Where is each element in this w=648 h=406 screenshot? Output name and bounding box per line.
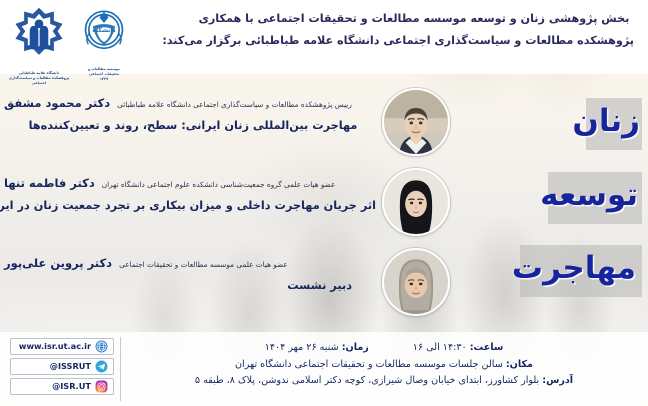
speaker-1-talk-title: مهاجرت بین‌المللی زنان ایرانی: سطح، روند… — [4, 119, 376, 132]
speaker-1-text: دکتر محمود مشفق رییس پژوهشکده مطالعات و … — [4, 96, 376, 132]
event-time-label: ساعت: — [470, 342, 504, 353]
footer-band: www.isr.ut.ac.ir @ISSRUT — [0, 332, 648, 406]
svg-text:دانشگاه: دانشگاه — [92, 26, 115, 34]
header-title-block: بخش پژوهشی زنان و توسعه موسسه مطالعات و … — [194, 8, 634, 52]
ut-isr-caption-line3: ۱۳۳۷ — [76, 77, 132, 82]
speaker-1-name: دکتر محمود مشفق — [4, 96, 110, 110]
header-band: دانشگاه موسسه مطالعات و تحقیقات اجتماعی … — [0, 0, 648, 74]
atu-emblem-icon — [8, 4, 70, 66]
speaker-1-affiliation: رییس پژوهشکده مطالعات و سیاست‌گذاری اجتم… — [117, 100, 352, 109]
speaker-photo-parvin-alipour — [382, 248, 450, 316]
globe-icon — [95, 340, 108, 353]
speaker-1-name-row: دکتر محمود مشفق رییس پژوهشکده مطالعات و … — [4, 96, 376, 110]
event-details: ساعت: ۱۴:۳۰ الی ۱۶ زمان: شنبه ۲۶ مهر ۱۴۰… — [128, 340, 640, 390]
speaker-3-affiliation: عضو هیات علمی موسسه مطالعات و تحقیقات اج… — [119, 260, 288, 269]
event-date-value: شنبه ۲۶ مهر ۱۴۰۴ — [265, 342, 339, 353]
event-venue-row: مکان: سالن جلسات موسسه مطالعات و تحقیقات… — [128, 357, 640, 374]
speaker-3-name: دکتر پروین علی‌پور — [4, 256, 112, 270]
telegram-label: @ISSRUT — [50, 362, 91, 370]
speaker-photo-mahmoud-moshfegh — [382, 88, 450, 156]
speaker-2-talk-title: اثر جریان مهاجرت داخلی و میزان بیکاری بر… — [4, 199, 376, 212]
event-address-label: آدرس: — [542, 375, 573, 386]
speaker-1-portrait-icon — [384, 90, 448, 154]
telegram-icon — [95, 360, 108, 373]
ut-isr-emblem-icon: دانشگاه — [76, 4, 132, 62]
speaker-2-affiliation: عضو هیات علمی گروه جمعیت‌شناسی دانشکده ع… — [102, 180, 336, 189]
speaker-2-name-row: دکتر فاطمه تنها عضو هیات علمی گروه جمعیت… — [4, 176, 376, 190]
header-line-1: بخش پژوهشی زنان و توسعه موسسه مطالعات و … — [194, 8, 634, 30]
title-word-1: زنان — [572, 106, 640, 137]
event-venue-label: مکان: — [506, 359, 533, 370]
speaker-3-name-row: دکتر پروین علی‌پور عضو هیات علمی موسسه م… — [4, 256, 376, 270]
instagram-link[interactable]: @ISR.UT — [10, 378, 114, 395]
logo-group: دانشگاه موسسه مطالعات و تحقیقات اجتماعی … — [8, 4, 132, 86]
social-links-group: www.isr.ut.ac.ir @ISSRUT — [10, 338, 114, 395]
header-line-2: پژوهشکده مطالعات و سیاست‌گذاری اجتماعی د… — [194, 30, 634, 52]
speaker-2-text: دکتر فاطمه تنها عضو هیات علمی گروه جمعیت… — [4, 176, 376, 212]
title-word-2: توسعه — [540, 180, 638, 211]
speaker-row-3: دکتر پروین علی‌پور عضو هیات علمی موسسه م… — [0, 246, 452, 320]
title-word-3: مهاجرت — [512, 253, 636, 284]
allameh-tabatabai-university-logo: دانشگاه علامه طباطبائی پژوهشکده مطالعات … — [8, 4, 70, 86]
instagram-icon — [95, 380, 108, 393]
telegram-link[interactable]: @ISSRUT — [10, 358, 114, 375]
instagram-label: @ISR.UT — [52, 382, 91, 390]
ut-isr-logo-caption: موسسه مطالعات و تحقیقات اجتماعی ۱۳۳۷ — [76, 67, 132, 82]
website-link[interactable]: www.isr.ut.ac.ir — [10, 338, 114, 355]
atu-caption-line2: پژوهشکده مطالعات و سیاست‌گذاری اجتماعی — [8, 76, 70, 86]
event-address-row: آدرس: بلوار کشاورز، ابتدای خیابان وصال ش… — [128, 373, 640, 390]
speaker-2-name: دکتر فاطمه تنها — [4, 176, 95, 190]
footer-divider — [120, 337, 121, 401]
speaker-row-1: دکتر محمود مشفق رییس پژوهشکده مطالعات و … — [0, 86, 452, 160]
event-date: زمان: شنبه ۲۶ مهر ۱۴۰۴ — [265, 340, 369, 357]
event-time: ساعت: ۱۴:۳۰ الی ۱۶ — [413, 340, 504, 357]
speaker-row-2: دکتر فاطمه تنها عضو هیات علمی گروه جمعیت… — [0, 166, 452, 240]
university-of-tehran-isr-logo: دانشگاه موسسه مطالعات و تحقیقات اجتماعی … — [76, 4, 132, 83]
website-label: www.isr.ut.ac.ir — [19, 342, 91, 350]
speaker-photo-fatemeh-tanha — [382, 168, 450, 236]
event-poster: دانشگاه موسسه مطالعات و تحقیقات اجتماعی … — [0, 0, 648, 406]
event-venue-value: سالن جلسات موسسه مطالعات و تحقیقات اجتما… — [235, 359, 503, 370]
speaker-3-portrait-icon — [384, 250, 448, 314]
event-address-value: بلوار کشاورز، ابتدای خیابان وصال شیرازی،… — [195, 375, 539, 386]
speaker-3-role: دبیر نشست — [4, 279, 376, 292]
event-date-label: زمان: — [342, 342, 369, 353]
event-time-value: ۱۴:۳۰ الی ۱۶ — [413, 342, 467, 353]
event-datetime-row: ساعت: ۱۴:۳۰ الی ۱۶ زمان: شنبه ۲۶ مهر ۱۴۰… — [128, 340, 640, 357]
speaker-2-portrait-icon — [384, 170, 448, 234]
atu-logo-caption: دانشگاه علامه طباطبائی پژوهشکده مطالعات … — [8, 71, 70, 86]
speaker-3-text: دکتر پروین علی‌پور عضو هیات علمی موسسه م… — [4, 256, 376, 292]
